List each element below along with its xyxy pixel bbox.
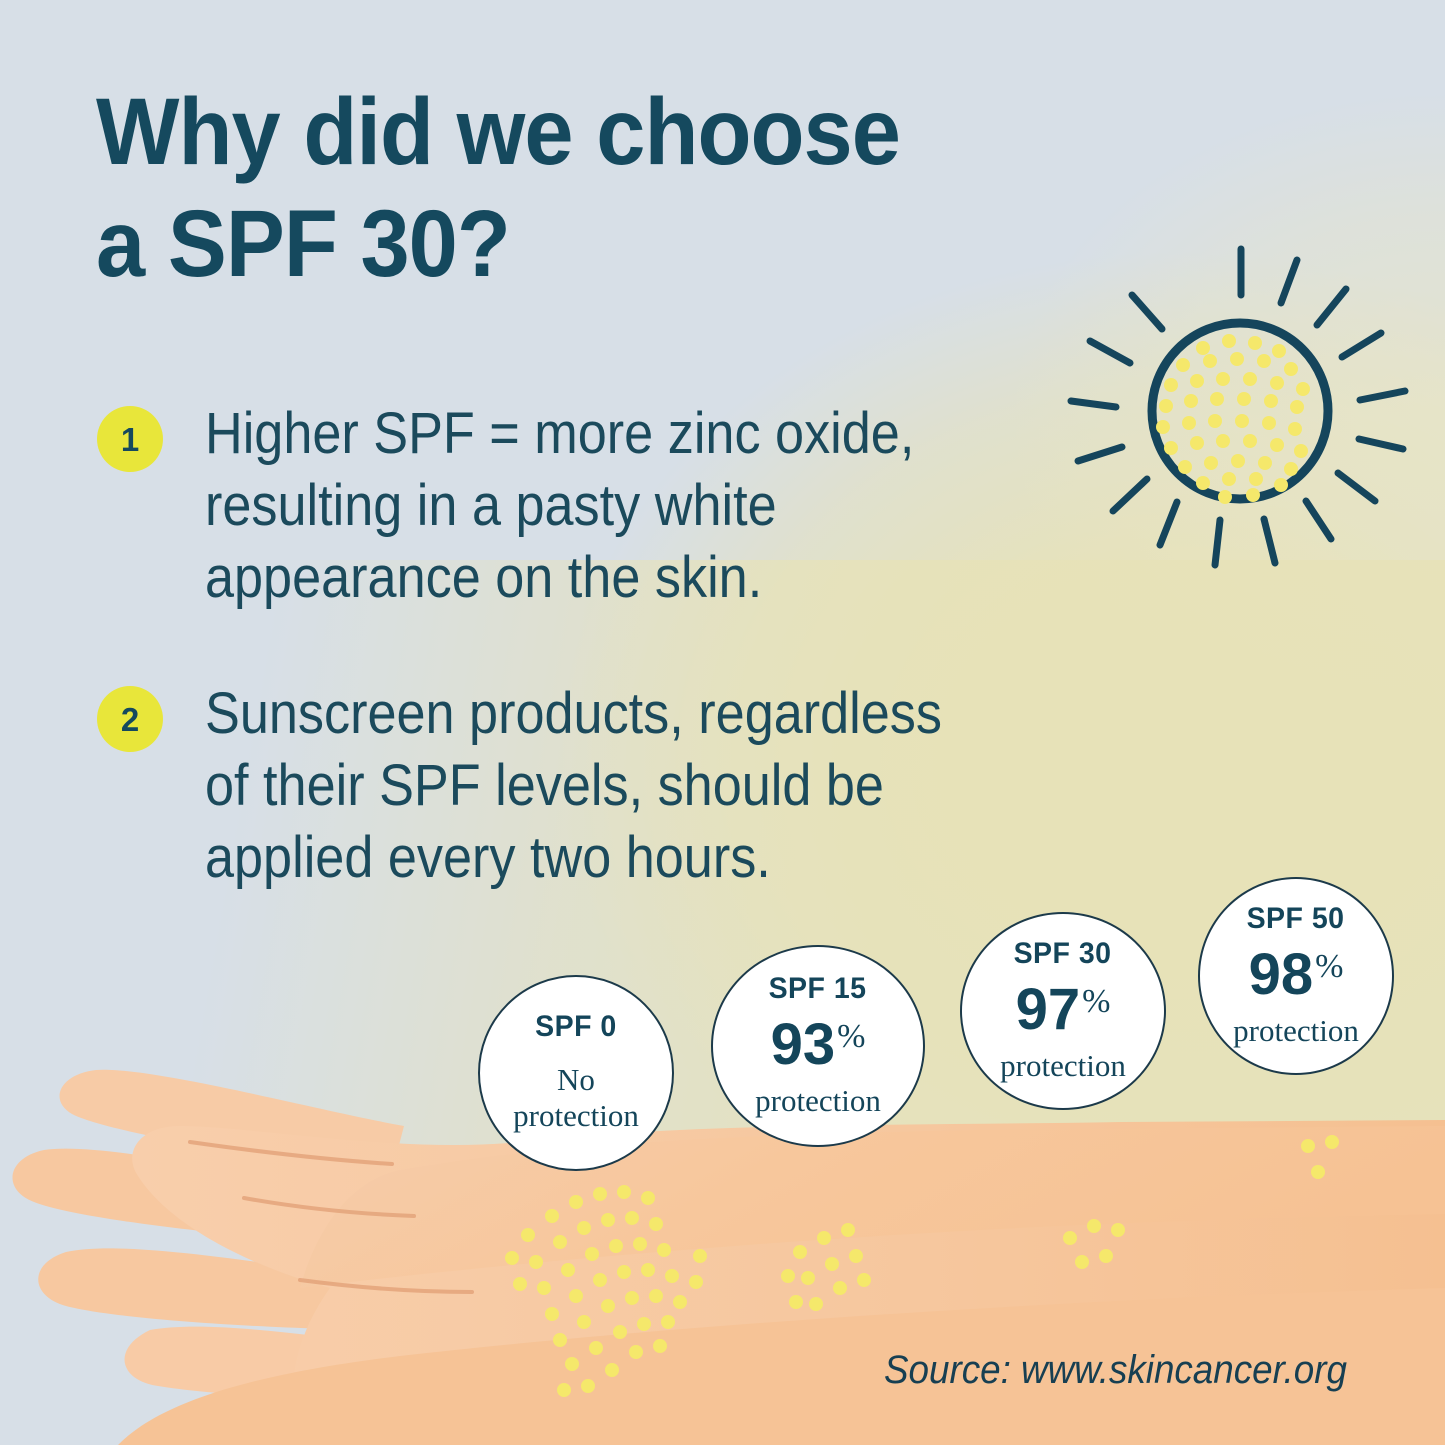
spf-circle-0-label: SPF 0 — [535, 1012, 617, 1042]
infographic-canvas: Why did we choose a SPF 30? 1 Higher SPF… — [0, 0, 1445, 1445]
page-title-line-1: Why did we choose — [96, 79, 900, 185]
list-item-2: 2 Sunscreen products, regardless of thei… — [97, 678, 1177, 894]
spf-circle-50: SPF 50 98 % protection — [1198, 877, 1394, 1075]
list-item-text-1: Higher SPF = more zinc oxide, resulting … — [205, 398, 914, 614]
spf-circle-50-percent-symbol: % — [1315, 950, 1343, 984]
spf-circle-15-percent: 93 % — [771, 1016, 866, 1074]
list-item-text-2: Sunscreen products, regardless of their … — [205, 678, 942, 894]
spf-circle-50-protection: protection — [1233, 1013, 1359, 1049]
spf-circle-30-protection: protection — [1000, 1048, 1126, 1084]
spf-circle-30-percent: 97 % — [1016, 981, 1111, 1039]
spf-circle-30-percent-symbol: % — [1082, 985, 1110, 1019]
spf-circle-30-percent-value: 97 — [1016, 981, 1081, 1039]
spf-circle-15-protection: protection — [755, 1083, 881, 1119]
spf-circle-15-percent-symbol: % — [837, 1020, 865, 1054]
spf-circle-15: SPF 15 93 % protection — [711, 945, 925, 1147]
spf-circle-50-label: SPF 50 — [1247, 904, 1345, 934]
list-number-badge-2: 2 — [97, 686, 163, 752]
spf-circle-15-percent-value: 93 — [771, 1016, 836, 1074]
spf-circle-30: SPF 30 97 % protection — [960, 912, 1166, 1110]
spf-circle-0-protection: No protection — [513, 1062, 639, 1134]
spf-circle-15-label: SPF 15 — [769, 974, 867, 1004]
list-number-badge-1: 1 — [97, 406, 163, 472]
spf-circle-0: SPF 0 No protection — [478, 975, 674, 1171]
spf-circle-50-percent: 98 % — [1249, 946, 1344, 1004]
page-title-line-2: a SPF 30? — [96, 188, 1175, 300]
page-title: Why did we choose a SPF 30? — [96, 76, 1175, 300]
list-item-1: 1 Higher SPF = more zinc oxide, resultin… — [97, 398, 1107, 614]
spf-circle-50-percent-value: 98 — [1249, 946, 1314, 1004]
spf-circle-30-label: SPF 30 — [1014, 939, 1112, 969]
source-attribution: Source: www.skincancer.org — [884, 1348, 1347, 1393]
